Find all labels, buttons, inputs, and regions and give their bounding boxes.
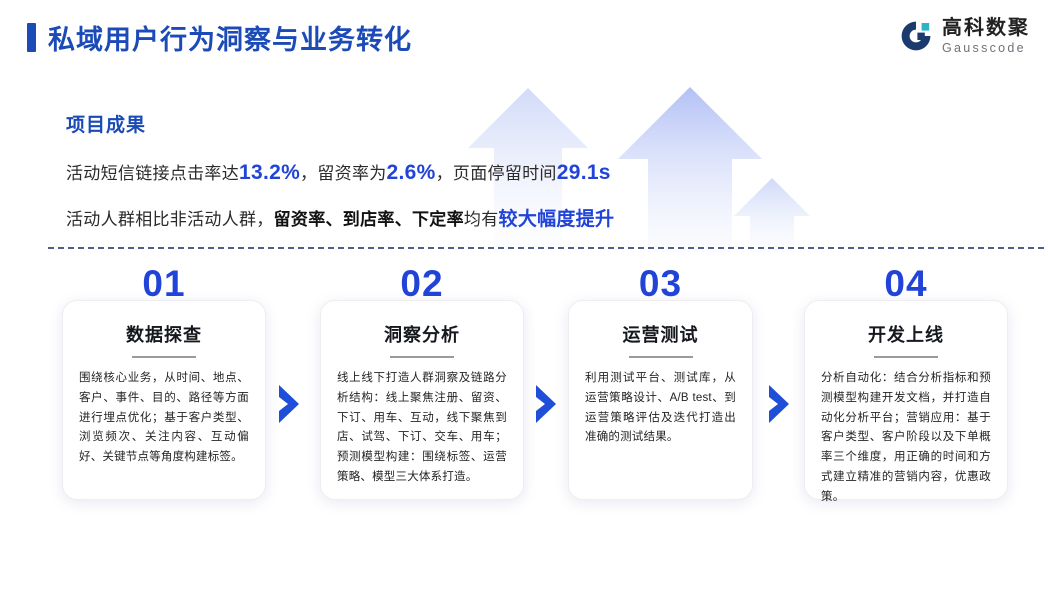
step-number: 03 [569,263,752,305]
step-card-3[interactable]: 03 运营测试 利用测试平台、测试库，从运营策略设计、A/B test、到运营策… [568,300,753,500]
step-title: 运营测试 [569,321,752,347]
logo-wordmark: 高科数聚 Gausscode [942,18,1030,55]
chevron-right-icon-1 [276,384,302,424]
step-card-2[interactable]: 02 洞察分析 线上线下打造人群洞察及链路分析结构：线上聚焦注册、留资、下订、用… [320,300,524,500]
step-number: 04 [805,263,1007,305]
results-l1-text2: ，留资率为 [300,164,387,183]
gausscode-logo-icon [898,18,934,54]
logo-name-cn: 高科数聚 [942,18,1030,38]
metric-click-rate: 13.2% [239,161,300,184]
section-divider [48,247,1044,249]
results-l2-bold: 留资率、到店率、下定率 [274,210,464,229]
step-title: 开发上线 [805,321,1007,347]
metric-lead-rate: 2.6% [387,161,436,184]
results-line-2: 活动人群相比非活动人群，留资率、到店率、下定率均有较大幅度提升 [66,204,614,231]
step-title: 数据探查 [63,321,265,347]
project-results-block: 项目成果 活动短信链接点击率达13.2%，留资率为2.6%，页面停留时间29.1… [66,110,614,231]
title-accent-bar [27,23,36,52]
step-title-rule [132,356,196,358]
results-line-1: 活动短信链接点击率达13.2%，留资率为2.6%，页面停留时间29.1s [66,159,614,185]
step-title-rule [629,356,693,358]
slide-root: 私域用户行为洞察与业务转化 高科数聚 Gausscode 项目成果 活动短信链接… [0,0,1048,591]
decor-arrow-center [618,87,762,252]
step-body: 分析自动化：结合分析指标和预测模型构建开发文档，并打造自动化分析平台；营销应用：… [821,369,991,507]
metric-dwell-time: 29.1s [557,161,611,184]
slide-header: 私域用户行为洞察与业务转化 高科数聚 Gausscode [0,0,1048,76]
results-l1-text3: ，页面停留时间 [436,164,557,183]
step-title-rule [390,356,454,358]
chevron-right-icon-3 [766,384,792,424]
results-l2-highlight: 较大幅度提升 [499,209,615,230]
process-steps: 01 数据探查 围绕核心业务，从时间、地点、客户、事件、目的、路径等方面进行埋点… [0,268,1048,518]
decor-arrow-right [734,178,810,252]
logo-name-en: Gausscode [942,42,1030,55]
step-body: 围绕核心业务，从时间、地点、客户、事件、目的、路径等方面进行埋点优化；基于客户类… [79,369,249,468]
step-card-1[interactable]: 01 数据探查 围绕核心业务，从时间、地点、客户、事件、目的、路径等方面进行埋点… [62,300,266,500]
step-body: 线上线下打造人群洞察及链路分析结构：线上聚焦注册、留资、下订、用车、互动，线下聚… [337,369,507,488]
step-title: 洞察分析 [321,321,523,347]
page-title: 私域用户行为洞察与业务转化 [48,18,412,57]
step-number: 01 [63,263,265,305]
results-heading: 项目成果 [66,110,614,137]
results-l1-text1: 活动短信链接点击率达 [66,164,239,183]
step-title-rule [874,356,938,358]
step-card-4[interactable]: 04 开发上线 分析自动化：结合分析指标和预测模型构建开发文档，并打造自动化分析… [804,300,1008,500]
results-l2-text2: 均有 [464,210,499,229]
brand-logo: 高科数聚 Gausscode [898,18,1030,55]
step-number: 02 [321,263,523,305]
results-l2-text1: 活动人群相比非活动人群， [66,210,274,229]
chevron-right-icon-2 [533,384,559,424]
step-body: 利用测试平台、测试库，从运营策略设计、A/B test、到运营策略评估及迭代打造… [585,369,736,448]
